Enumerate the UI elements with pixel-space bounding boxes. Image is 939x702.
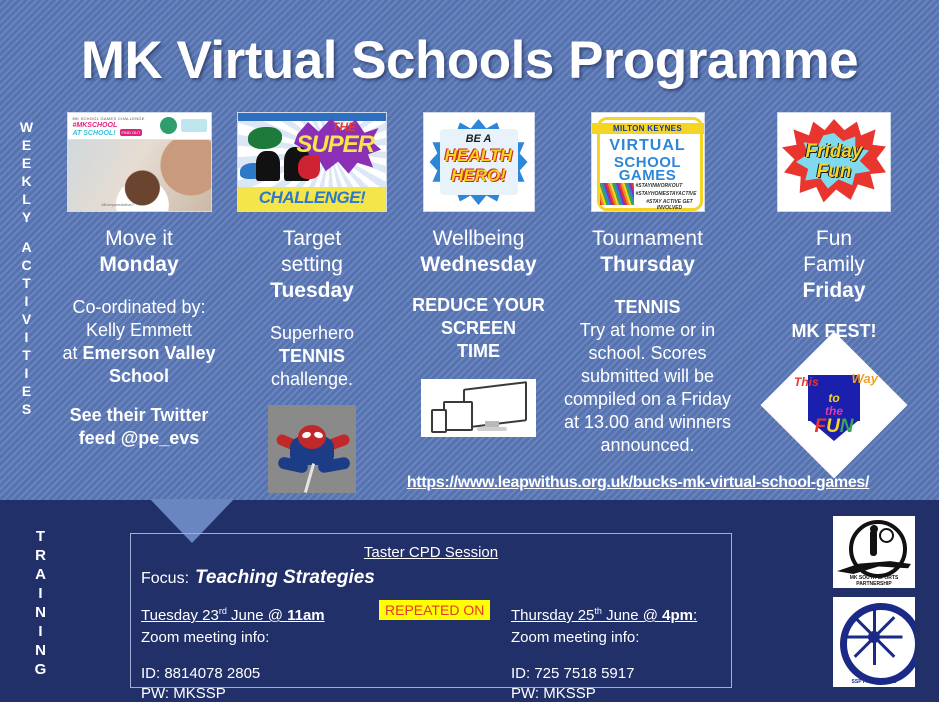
thursday-heading: TENNIS [614,297,680,317]
day-title-top2: Family [803,253,865,276]
diamond-word-way: Way [852,371,879,386]
date-pre: Thursday 25 [511,607,594,624]
training-label: TRAINING [26,527,56,679]
friday-fun-word-friday: Friday [778,141,890,163]
day-title-bold: Tuesday [270,279,354,302]
health-hero-be-a: BE A [424,133,534,145]
friday-fun-word-fun: Fun [778,161,890,183]
date-post: : [693,607,697,624]
cpd-focus-row: Focus:Teaching Strategies [141,567,375,589]
day-title-friday: Fun Family Friday [744,226,924,304]
date-pre: Tuesday 23 [141,607,219,624]
superhero-silhouette-2-icon [256,151,280,181]
wednesday-line-1: REDUCE YOUR [412,295,545,315]
day-title-bold: Thursday [600,253,695,276]
twitter-line-2: feed @pe_evs [79,428,200,448]
poster-root: MK Virtual Schools Programme WEEKLY ACTI… [0,0,939,702]
date-mid: June @ [227,607,287,624]
wednesday-line-2: SCREEN [441,318,516,338]
wednesday-description: REDUCE YOUR SCREEN TIME [396,294,561,363]
banner-badge-blue-icon [181,119,207,132]
cpd-session-1-id: ID: 8814078 2805 [141,664,391,684]
monday-coordinator-text: Co-ordinated by: Kelly Emmett at Emerson… [44,296,234,388]
date-time: 4pm [662,607,693,624]
thursday-body: Try at home or in school. Scores submitt… [564,320,731,455]
wheel-icon [840,603,915,685]
date-sup: rd [219,606,227,616]
banner-line-1: MK SCHOOL GAMES CHALLENGE [73,116,145,121]
mk-south-sports-partnership-logo: MK SOUTH SPORTS PARTNERSHIP [833,516,915,588]
vsg-virtual: VIRTUAL [592,137,704,155]
rainbow-streaks-icon [600,183,634,205]
vsg-hashtag-3: #STAY ACTIVE GET INVOLVED [636,199,704,211]
tuesday-line-3: challenge. [271,369,353,389]
girl-exercising-photo [68,139,211,211]
date-time: 11am [287,607,325,624]
repeated-on-badge: REPEATED ON [379,600,490,620]
cpd-heading: Taster CPD Session [131,544,731,561]
thursday-description: TENNIS Try at home or in school. Scores … [560,296,735,457]
super-word-super: SUPER [296,131,374,159]
day-column-monday: MK SCHOOL GAMES CHALLENGE #MKSCHOOL AT S… [44,112,234,450]
screen-devices-photo [421,379,536,437]
cpd-session-2-zoom-label: Zoom meeting info: [511,628,741,648]
wheel-hub [868,631,880,643]
day-title-top2: setting [281,253,343,276]
day-title-top: Fun [816,227,852,250]
diamond-letter-u: U [826,416,840,437]
date-sup: th [594,606,602,616]
day-title-bold: Friday [802,279,865,302]
banner-line-2: #MKSCHOOL [73,122,118,129]
day-column-friday: Friday Fun Fun Family Friday MK FEST! Th… [744,112,924,457]
cpd-session-1-date: Tuesday 23rd June @ 11am [141,601,391,626]
day-column-tuesday: THE SUPER CHALLENGE! Target setting Tues… [232,112,392,493]
tuesday-line-1: Superhero [270,323,354,343]
vsg-hashtag-2: #STAYHOMESTAYACTIVE [636,191,697,197]
logo-text: SSP PROGRAMME [833,679,915,685]
be-a-health-hero-graphic: BE A HEALTH HERO! [423,112,535,212]
cpd-session-2-pw: PW: MKSSP [511,684,741,702]
tennis-racket-icon [879,528,894,543]
super-word-challenge: CHALLENGE! [238,188,386,208]
weekly-activities-label: WEEKLY ACTIVITIES [12,118,42,418]
spiderman-photo [268,405,356,493]
cpd-session-1-zoom-label: Zoom meeting info: [141,628,391,648]
coordinator-line-3-pre: at [62,343,82,363]
health-hero-hero: HERO! [424,166,534,186]
date-mid: June @ [602,607,662,624]
day-column-wednesday: BE A HEALTH HERO! Wellbeing Wednesday RE… [396,112,561,437]
cpd-focus-value: Teaching Strategies [195,567,375,588]
coordinator-school-1: Emerson Valley [82,343,215,363]
day-title-monday: Move it Monday [44,226,234,278]
day-title-bold: Wednesday [420,253,536,276]
photo-caption: #EveryoneActive? [102,202,134,207]
banner-badge-green-icon [160,117,177,134]
mk-virtual-school-games-logo: MILTON KEYNES VIRTUAL SCHOOL GAMES #STAY… [591,112,705,212]
photo-banner: MK SCHOOL GAMES CHALLENGE #MKSCHOOL AT S… [68,113,211,140]
day-title-top: Wellbeing [433,227,525,250]
monitor-base [477,427,507,431]
diamond-word-to: to [782,391,886,405]
programme-url-link[interactable]: https://www.leapwithus.org.uk/bucks-mk-v… [348,474,928,492]
cpd-session-2: Thursday 25th June @ 4pm: Zoom meeting i… [511,601,741,702]
diamond-word-fun: FUN [782,416,886,438]
logo-text: MK SOUTH SPORTS PARTNERSHIP [833,575,915,587]
milton-keynes-north-partnership-logo: SSP PROGRAMME [833,597,915,687]
wednesday-line-3: TIME [457,341,500,361]
friday-fun-graphic: Friday Fun [777,112,891,212]
day-title-thursday: Tournament Thursday [560,226,735,278]
day-title-wednesday: Wellbeing Wednesday [396,226,561,278]
banner-line-3: AT SCHOOL! [73,130,116,137]
health-hero-health: HEALTH [424,146,534,166]
cpd-session-1: Tuesday 23rd June @ 11am Zoom meeting in… [141,601,391,702]
phone-icon [431,409,447,433]
cpd-session-2-date: Thursday 25th June @ 4pm: [511,601,741,626]
coordinator-line-2: Kelly Emmett [86,320,192,340]
tablet-icon [443,401,473,431]
day-title-tuesday: Target setting Tuesday [232,226,392,304]
tennis-player-body-icon [870,530,877,556]
monday-twitter-text: See their Twitter feed @pe_evs [44,404,234,450]
vsg-games: GAMES [592,167,704,184]
superhero-silhouette-1-icon [248,127,282,149]
vsg-milton-keynes: MILTON KEYNES [592,123,704,134]
cpd-focus-label: Focus: [141,570,189,587]
day-title-top: Target [283,227,341,250]
coordinator-school-2: School [109,366,169,386]
cpd-session-2-id: ID: 725 7518 5917 [511,664,741,684]
coordinator-line-1: Co-ordinated by: [72,297,205,317]
vsg-hashtag-1: #STAYINWORKOUT [636,183,683,189]
diamond-word-this: This [794,375,819,389]
diamond-letter-f: F [814,416,826,437]
twitter-line-1: See their Twitter [70,405,209,425]
page-title: MK Virtual Schools Programme [0,30,939,91]
diamond-letter-n: N [840,416,854,437]
this-way-to-the-fun-diamond: This Way to the FUN [782,353,886,457]
day-title-bold: Monday [99,253,178,276]
cpd-session-1-pw: PW: MKSSP [141,684,391,702]
tuesday-description: Superhero TENNIS challenge. [232,322,392,391]
banner-pill: FIND OUT [120,129,143,136]
move-it-monday-photo: MK SCHOOL GAMES CHALLENGE #MKSCHOOL AT S… [67,112,212,212]
day-title-top: Tournament [592,227,703,250]
day-column-thursday: MILTON KEYNES VIRTUAL SCHOOL GAMES #STAY… [560,112,735,457]
taster-cpd-session-box: Taster CPD Session Focus:Teaching Strate… [130,533,732,688]
the-super-challenge-graphic: THE SUPER CHALLENGE! [237,112,387,212]
tuesday-line-2: TENNIS [279,346,345,366]
day-title-top: Move it [105,227,173,250]
